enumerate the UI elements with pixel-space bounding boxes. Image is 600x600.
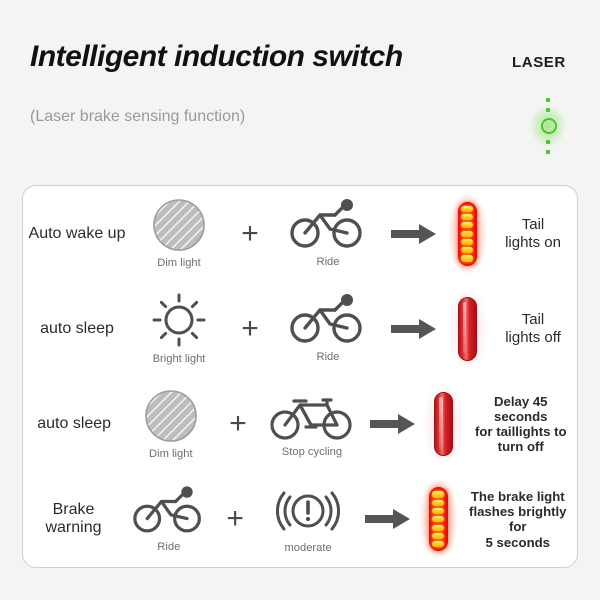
led: [461, 247, 474, 253]
laser-dot: [546, 98, 550, 102]
row-result-label: Tail lights off: [501, 311, 565, 346]
operator-cell: +: [216, 409, 260, 439]
bright-light-icon: [151, 292, 207, 348]
condition-caption: Dim light: [157, 257, 201, 269]
condition-caption: Ride: [157, 541, 180, 553]
led: [461, 222, 474, 228]
condition-cell-ride: Ride: [273, 294, 383, 363]
taillight-cell: [417, 487, 458, 551]
taillight-cell: [423, 392, 465, 456]
arrow-cell: [383, 223, 445, 245]
led: [432, 508, 445, 514]
taillight-body: [434, 392, 453, 456]
taillight-on-icon: [458, 202, 477, 266]
led: [461, 255, 474, 261]
plus-icon: +: [241, 314, 259, 344]
row-result-cell: Tail lights off: [489, 311, 577, 346]
taillight-off-icon: [434, 392, 453, 456]
led: [432, 525, 445, 531]
laser-ring-icon: [541, 118, 557, 134]
led: [432, 516, 445, 522]
condition-cell-ride: Ride: [124, 486, 214, 553]
row-result-cell: The brake light flashes brightly for 5 s…: [459, 489, 577, 550]
page-subtitle: (Laser brake sensing function): [30, 108, 245, 126]
led: [432, 491, 445, 497]
plus-icon: +: [226, 504, 244, 534]
arrow-cell: [364, 413, 423, 435]
table-row: Brake warning Ride: [23, 472, 577, 567]
laser-dot: [546, 150, 550, 154]
led: [432, 541, 445, 547]
bicycle-icon: [270, 391, 354, 441]
condition-cell-stop-cycling: Stop cycling: [260, 391, 364, 458]
taillight-gloss: [463, 302, 467, 354]
taillight-off-icon: [458, 297, 477, 361]
cyclist-icon: [133, 486, 205, 536]
arrow-cell: [359, 508, 417, 530]
row-result-label: Delay 45 seconds for taillights to turn …: [465, 394, 577, 455]
condition-caption: Ride: [316, 351, 339, 363]
operator-cell: +: [214, 504, 257, 534]
table-row: auto sleep Dim light: [23, 377, 577, 472]
taillight-gloss: [439, 397, 443, 449]
arrow-right-icon: [391, 223, 437, 245]
led-strip: [432, 491, 445, 547]
row-state-label: auto sleep: [23, 415, 125, 433]
taillight-on-icon: [429, 487, 448, 551]
induction-modes-panel: Auto wake up Dim light: [22, 185, 578, 568]
operator-cell: +: [227, 219, 273, 249]
taillight-cell: [445, 297, 489, 361]
condition-caption: Stop cycling: [282, 446, 342, 458]
taillight-body: [458, 297, 477, 361]
row-state-label: Auto wake up: [23, 225, 131, 243]
led-strip: [461, 206, 474, 262]
led: [461, 231, 474, 237]
condition-caption: Dim light: [149, 448, 193, 460]
arrow-right-icon: [365, 508, 411, 530]
row-state-label: auto sleep: [23, 320, 131, 338]
led: [432, 500, 445, 506]
laser-dot: [546, 140, 550, 144]
arrow-right-icon: [370, 413, 416, 435]
led: [461, 239, 474, 245]
row-result-cell: Delay 45 seconds for taillights to turn …: [465, 394, 577, 455]
arrow-right-icon: [391, 318, 437, 340]
page-title: Intelligent induction switch: [30, 40, 403, 74]
laser-beam-icon: [524, 96, 572, 156]
operator-cell: +: [227, 314, 273, 344]
condition-cell-brake: moderate: [257, 485, 360, 554]
table-row: Auto wake up Dim light: [23, 186, 577, 281]
led: [432, 533, 445, 539]
row-result-label: The brake light flashes brightly for 5 s…: [459, 489, 577, 550]
row-state-label: Brake warning: [23, 501, 124, 537]
plus-icon: +: [229, 409, 247, 439]
laser-dot: [546, 108, 550, 112]
plus-icon: +: [241, 219, 259, 249]
brake-warning-icon: [276, 485, 340, 537]
dim-light-icon: [152, 198, 206, 252]
taillight-cell: [445, 202, 489, 266]
condition-caption: Bright light: [153, 353, 206, 365]
header: Intelligent induction switch (Laser brak…: [0, 0, 600, 172]
table-row: auto sleep: [23, 281, 577, 376]
cyclist-icon: [290, 294, 366, 346]
laser-badge-label: LASER: [512, 54, 566, 71]
led: [461, 214, 474, 220]
condition-cell-bright-light: Bright light: [131, 292, 227, 365]
led: [461, 206, 474, 212]
arrow-cell: [383, 318, 445, 340]
condition-caption: Ride: [316, 256, 339, 268]
condition-caption: moderate: [284, 542, 331, 554]
mode-row-list: Auto wake up Dim light: [23, 186, 577, 567]
cyclist-icon: [290, 199, 366, 251]
condition-cell-ride: Ride: [273, 199, 383, 268]
condition-cell-dim-light: Dim light: [131, 198, 227, 269]
condition-cell-dim-light: Dim light: [125, 389, 216, 460]
row-result-label: Tail lights on: [501, 216, 565, 251]
dim-light-icon: [144, 389, 198, 443]
row-result-cell: Tail lights on: [489, 216, 577, 251]
